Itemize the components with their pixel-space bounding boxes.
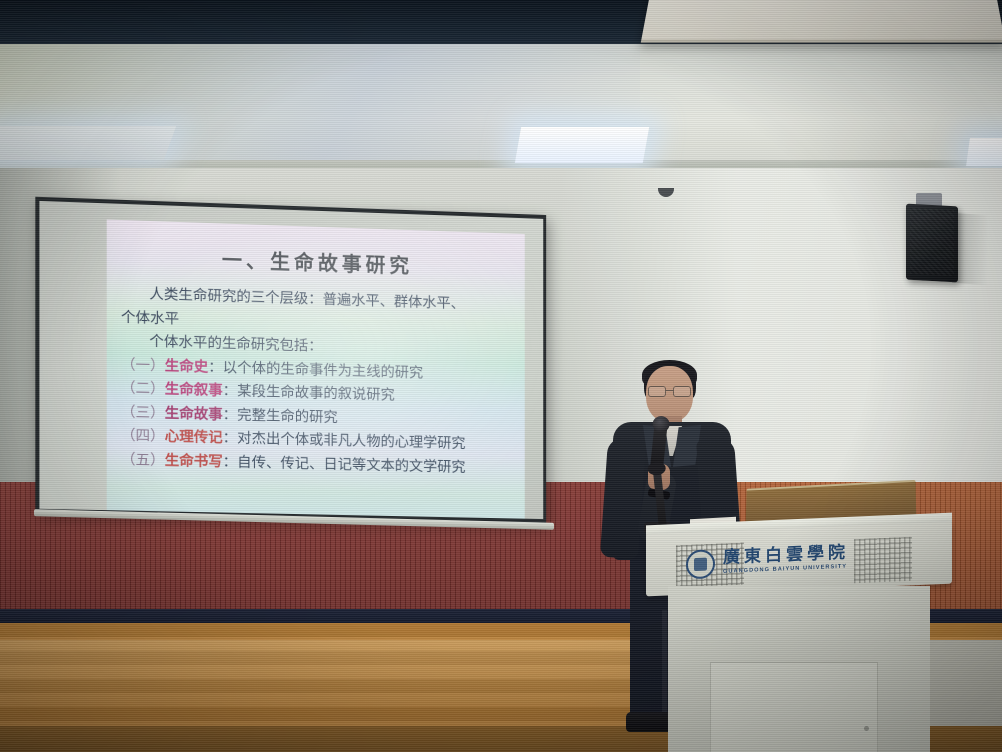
item-term: 生命史 — [165, 358, 209, 375]
slide-title: 一、生命故事研究 — [107, 240, 525, 283]
item-term: 心理传记 — [165, 429, 223, 446]
item-separator: ： — [223, 430, 237, 446]
item-term: 生命书写 — [165, 452, 223, 469]
item-number: （四） — [121, 428, 165, 445]
university-logo-text: 廣東白雲學院 GUANGDONG BAIYUN UNIVERSITY — [723, 545, 849, 576]
item-description: 以个体的生命事件为主线的研究 — [223, 360, 423, 382]
item-separator: ： — [223, 407, 237, 423]
item-number: （二） — [121, 380, 165, 397]
item-description: 对杰出个体或非凡人物的心理学研究 — [237, 431, 465, 452]
ceiling-light-panel-right — [966, 138, 1002, 166]
glasses-lens-right — [673, 386, 691, 397]
item-separator: ： — [208, 359, 222, 375]
item-term: 生命叙事 — [165, 382, 223, 400]
projected-slide: 一、生命故事研究 人类生命研究的三个层级：普遍水平、群体水平、 个体水平 个体水… — [107, 219, 525, 518]
projection-screen: 一、生命故事研究 人类生命研究的三个层级：普遍水平、群体水平、 个体水平 个体水… — [35, 197, 546, 523]
podium-cabinet-door[interactable] — [710, 662, 878, 752]
item-separator: ： — [223, 454, 237, 470]
lectern-podium: 廣東白雲學院 GUANGDONG BAIYUN UNIVERSITY — [646, 528, 952, 752]
wall-speaker-icon — [906, 204, 958, 283]
item-description: 完整生命的研究 — [237, 407, 338, 426]
slide-body: 人类生命研究的三个层级：普遍水平、群体水平、 个体水平 个体水平的生命研究包括：… — [121, 283, 517, 481]
item-separator: ： — [223, 383, 237, 399]
item-description: 某段生命故事的叙说研究 — [237, 383, 395, 403]
item-number: （三） — [121, 404, 165, 421]
item-term: 生命故事 — [165, 405, 223, 423]
seal-inner-mark — [694, 557, 707, 571]
item-number: （一） — [121, 357, 165, 374]
item-number: （五） — [121, 451, 165, 468]
university-seal-icon — [686, 549, 715, 579]
ceiling-light-panel-center — [515, 127, 649, 163]
item-description: 自传、传记、日记等文本的文学研究 — [237, 454, 465, 475]
glasses-lens-left — [648, 386, 666, 397]
projection-screen-surface: 一、生命故事研究 人类生命研究的三个层级：普遍水平、群体水平、 个体水平 个体水… — [39, 201, 543, 519]
podium-body — [668, 586, 930, 752]
ceiling-light-panel-left — [0, 126, 176, 160]
podium-door-knob[interactable] — [864, 726, 869, 731]
ceiling-ac-unit-icon — [641, 0, 1002, 43]
glasses-icon — [648, 386, 691, 395]
lecture-hall-photo: 一、生命故事研究 人类生命研究的三个层级：普遍水平、群体水平、 个体水平 个体水… — [0, 0, 1002, 752]
